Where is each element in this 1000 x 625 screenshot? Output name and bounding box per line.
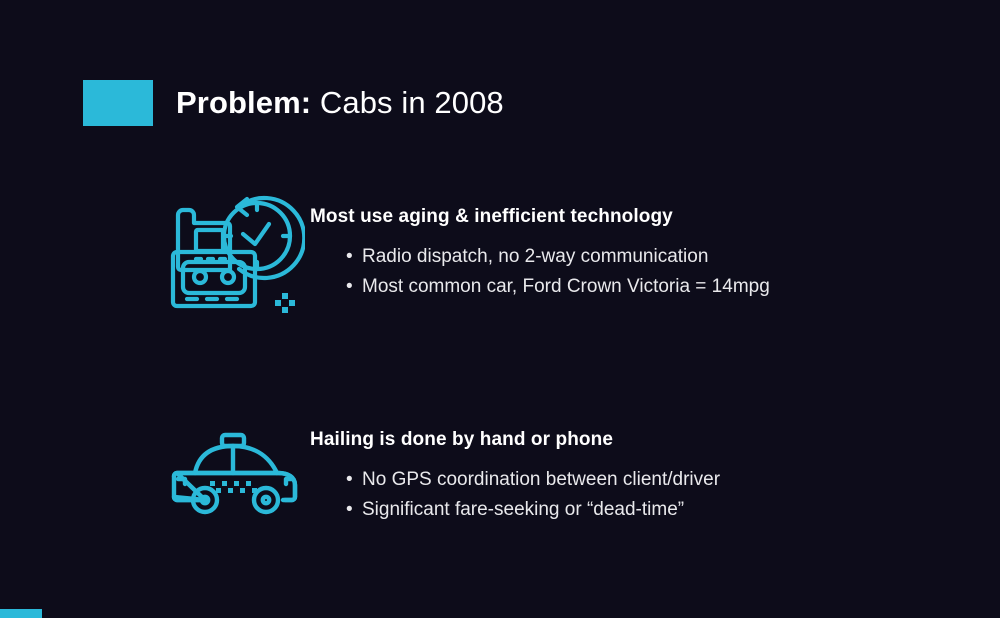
text-cell-technology: Most use aging & inefficient technology … bbox=[310, 180, 770, 302]
icon-cell-hailing bbox=[160, 415, 310, 519]
page-title: Problem: Cabs in 2008 bbox=[176, 85, 504, 121]
bottom-left-accent-bar bbox=[0, 609, 42, 618]
bullet-list-technology: Radio dispatch, no 2-way communication M… bbox=[310, 242, 770, 302]
list-item: No GPS coordination between client/drive… bbox=[346, 465, 720, 495]
text-cell-hailing: Hailing is done by hand or phone No GPS … bbox=[310, 415, 720, 525]
radio-cassette-clock-icon bbox=[165, 180, 305, 320]
list-item: Radio dispatch, no 2-way communication bbox=[346, 242, 770, 272]
content-block-technology: Most use aging & inefficient technology … bbox=[160, 180, 770, 320]
block-heading-technology: Most use aging & inefficient technology bbox=[310, 206, 770, 228]
content-block-hailing: Hailing is done by hand or phone No GPS … bbox=[160, 415, 720, 525]
checker-stripe bbox=[210, 481, 257, 493]
slide-title-row: Problem: Cabs in 2008 bbox=[83, 80, 504, 126]
list-item: Significant fare-seeking or “dead-time” bbox=[346, 495, 720, 525]
icon-cell-technology bbox=[160, 180, 310, 320]
list-item: Most common car, Ford Crown Victoria = 1… bbox=[346, 272, 770, 302]
block-heading-hailing: Hailing is done by hand or phone bbox=[310, 429, 720, 451]
bullet-list-hailing: No GPS coordination between client/drive… bbox=[310, 465, 720, 525]
sparkle-accent-icon bbox=[275, 293, 295, 313]
title-accent-swatch bbox=[83, 80, 153, 126]
title-light-part: Cabs in 2008 bbox=[311, 85, 504, 120]
taxi-cab-icon bbox=[169, 427, 301, 519]
title-strong-part: Problem: bbox=[176, 85, 311, 120]
slide-canvas: Problem: Cabs in 2008 bbox=[0, 0, 1000, 618]
